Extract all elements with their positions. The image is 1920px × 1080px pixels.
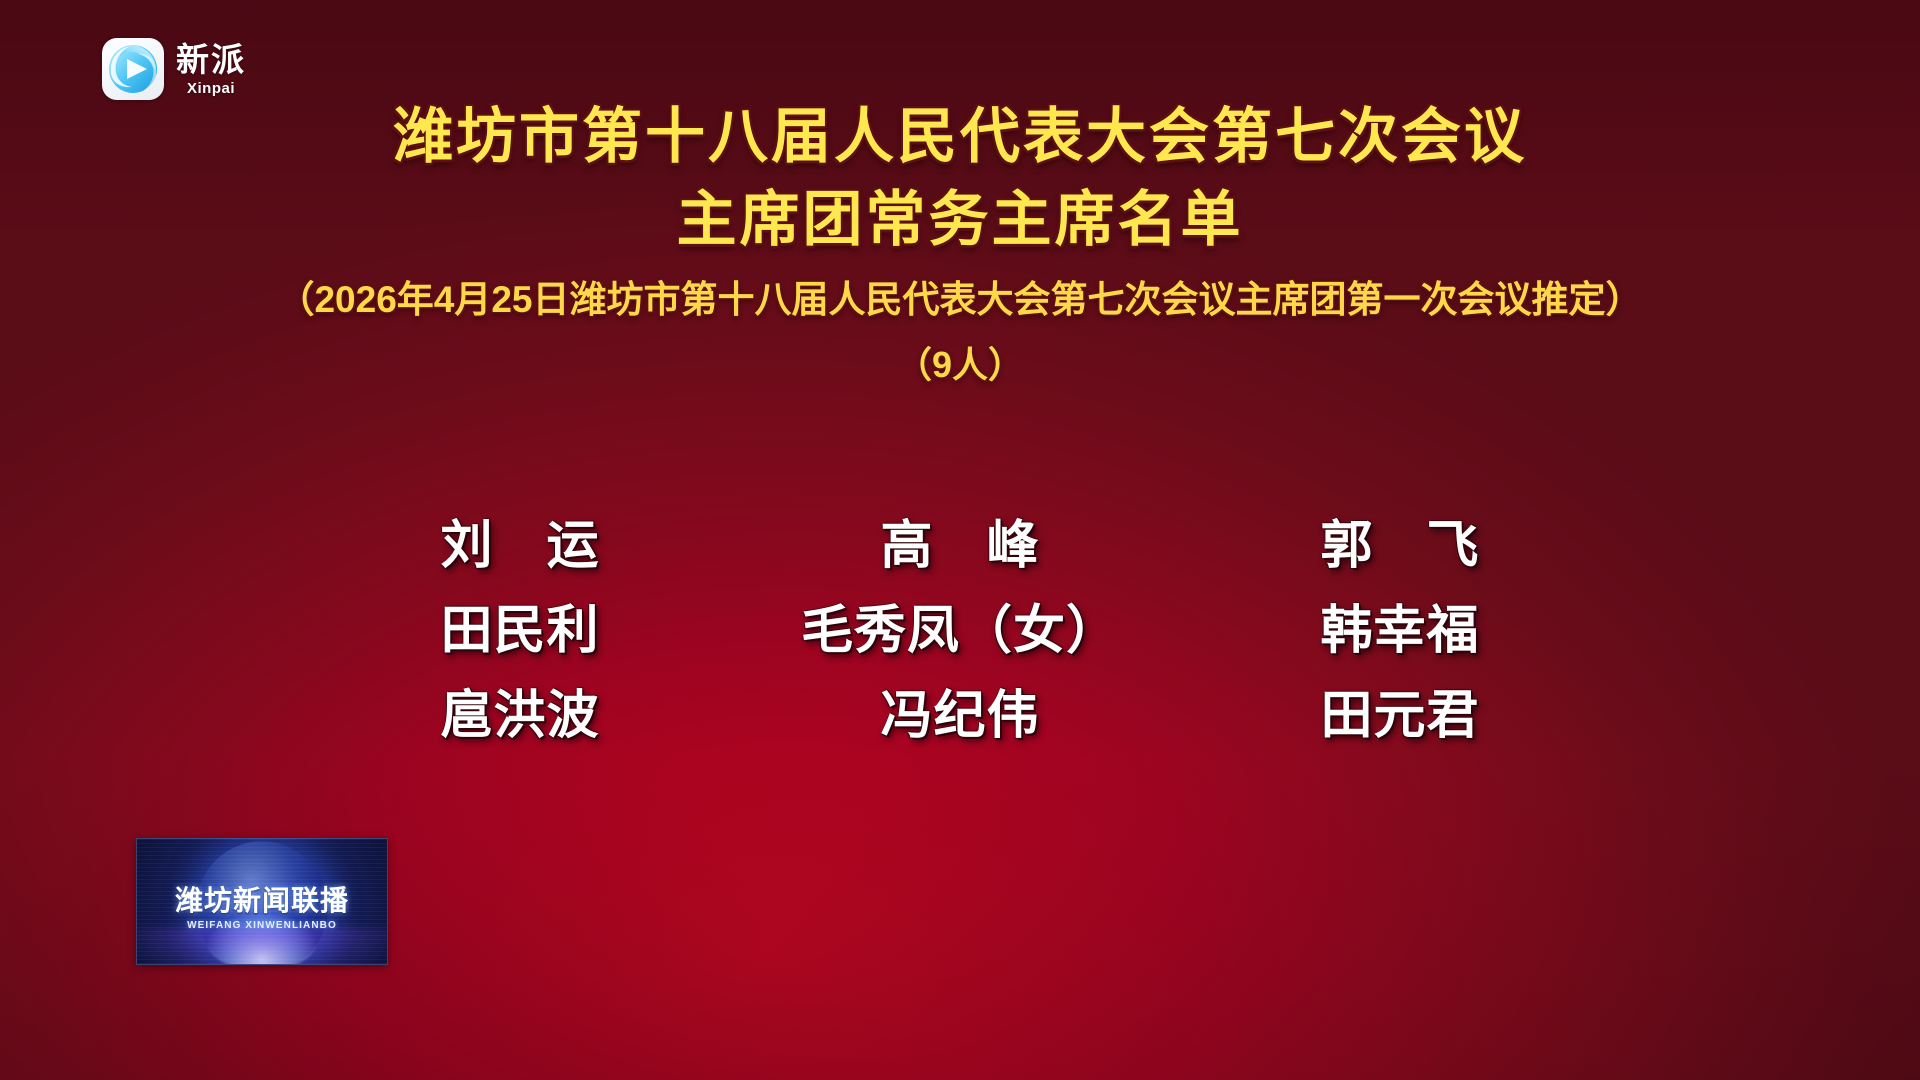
roster-name: 刘 运 — [300, 503, 740, 578]
title-line-2: 主席团常务主席名单 — [0, 179, 1920, 262]
roster-name: 毛秀凤（女） — [740, 588, 1180, 663]
roster-name: 田元君 — [1180, 673, 1620, 748]
table-row: 田民利 毛秀凤（女） 韩幸福 — [300, 583, 1620, 668]
brand-logo: 新派 Xinpai — [102, 38, 246, 100]
headline-count: （9人） — [0, 336, 1920, 388]
roster-grid: 刘 运 高 峰 郭 飞 田民利 毛秀凤（女） 韩幸福 扈洪波 冯纪伟 田元君 — [300, 498, 1620, 753]
table-row: 刘 运 高 峰 郭 飞 — [300, 498, 1620, 583]
title-line-1: 潍坊市第十八届人民代表大会第七次会议 — [0, 96, 1920, 179]
roster-name: 韩幸福 — [1180, 588, 1620, 663]
bug-text: 潍坊新闻联播 WEIFANG XINWENLIANBO — [137, 887, 387, 931]
table-row: 扈洪波 冯纪伟 田元君 — [300, 668, 1620, 753]
channel-name-en: WEIFANG XINWENLIANBO — [137, 921, 387, 931]
xinpai-play-swirl-icon — [102, 38, 164, 100]
channel-bug: 潍坊新闻联播 WEIFANG XINWENLIANBO — [136, 838, 388, 965]
brand-name-en: Xinpai — [176, 81, 246, 96]
roster-name: 扈洪波 — [300, 673, 740, 748]
roster-name: 高 峰 — [740, 503, 1180, 578]
roster-name: 冯纪伟 — [740, 673, 1180, 748]
headline-subtitle: （2026年4月25日潍坊市第十八届人民代表大会第七次会议主席团第一次会议推定） — [0, 276, 1920, 325]
brand-name-cn: 新派 — [176, 43, 246, 76]
channel-name-cn: 潍坊新闻联播 — [137, 887, 387, 915]
headline-block: 潍坊市第十八届人民代表大会第七次会议 主席团常务主席名单 （2026年4月25日… — [0, 96, 1920, 388]
brand-wordmark: 新派 Xinpai — [176, 43, 246, 96]
roster-name: 郭 飞 — [1180, 503, 1620, 578]
broadcast-slide: 新派 Xinpai 潍坊市第十八届人民代表大会第七次会议 主席团常务主席名单 （… — [0, 0, 1920, 1080]
roster-name: 田民利 — [300, 588, 740, 663]
